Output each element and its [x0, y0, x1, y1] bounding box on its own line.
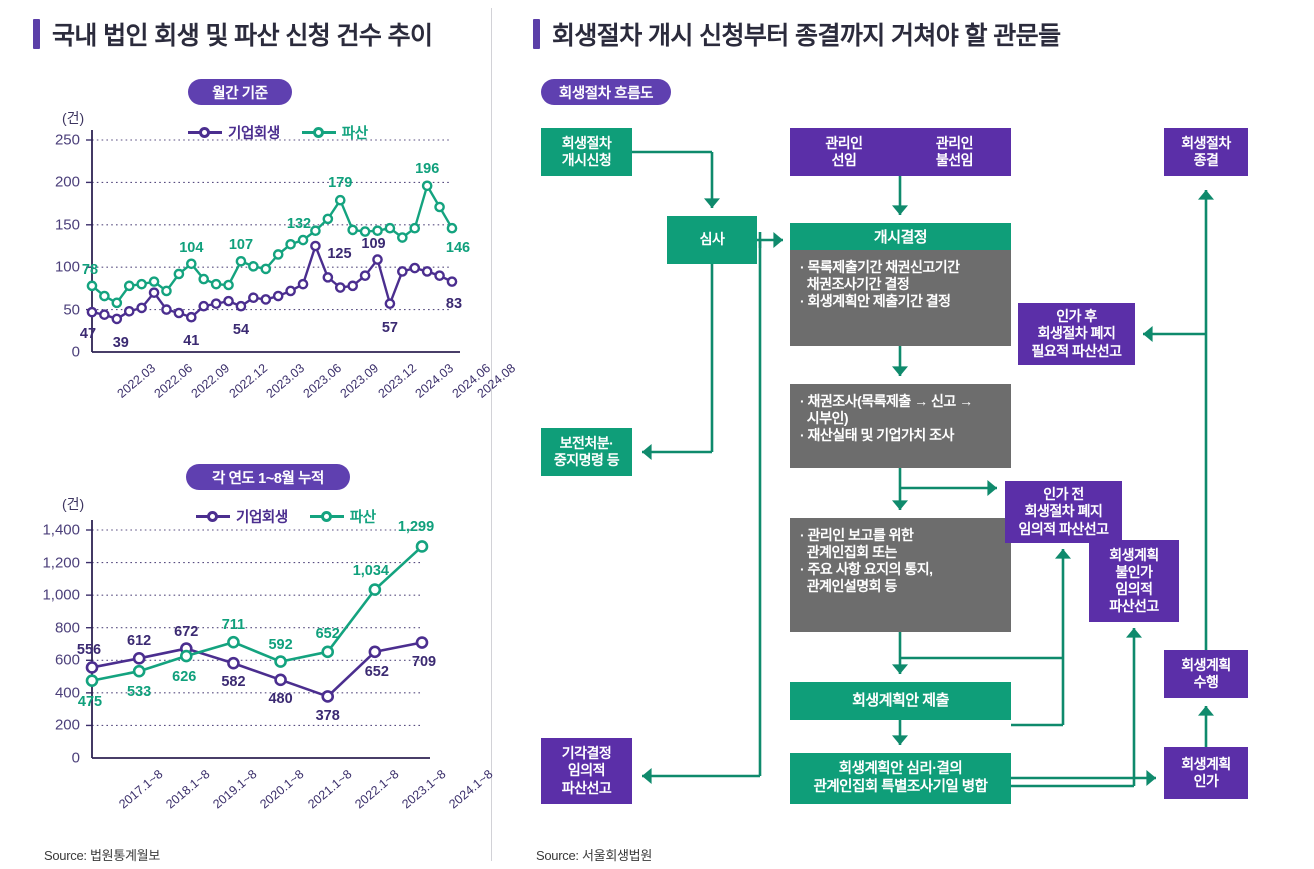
- node-text-line: 필요적 파산선고: [1031, 343, 1121, 360]
- right-source-note: Source: 서울회생법원: [536, 845, 652, 864]
- node-plan-submit[interactable]: 회생계획안 제출: [790, 682, 1011, 720]
- node-text-line: 채권조사기간 결정: [800, 276, 909, 293]
- node-text-line: · 회생계획안 제출기간 결정: [800, 293, 951, 310]
- node-start-body[interactable]: · 목록제출기간 채권신고기간 채권조사기간 결정· 회생계획안 제출기간 결정: [790, 250, 1011, 346]
- node-text-line: 회생계획안 제출: [852, 692, 949, 710]
- chart2-y-tick: 200: [55, 717, 80, 734]
- node-text-line: 관계인집회 특별조사기일 병합: [814, 779, 988, 797]
- node-trustee-no[interactable]: 관리인불선임: [898, 128, 1011, 176]
- cumulative-line-chart: 02004006008001,0001,2001,4002017.1~82018…: [0, 440, 492, 840]
- chart1-data-label: 107: [229, 237, 253, 253]
- chart1-data-label: 54: [233, 322, 249, 338]
- node-text-line: 심사: [700, 231, 725, 248]
- node-text-line: 시부인): [800, 410, 848, 427]
- left-panel: 국내 법인 회생 및 파산 신청 건수 추이 월간 기준 (건) 기업회생 파산…: [0, 0, 492, 869]
- node-text-line: 인가: [1194, 773, 1219, 790]
- node-text-line: 임의적 파산선고: [1018, 521, 1108, 538]
- chart1-data-label: 41: [183, 333, 199, 349]
- chart2-data-label: 582: [221, 674, 245, 690]
- chart2-data-label: 592: [268, 637, 292, 653]
- node-text-line: 보전처분·: [560, 435, 614, 452]
- chart1-y-tick: 250: [55, 132, 80, 149]
- chart2-y-tick: 0: [72, 750, 80, 767]
- node-text-line: 임의적: [1115, 581, 1152, 598]
- node-text-line: · 채권조사(목록제출 → 신고 →: [800, 393, 973, 410]
- node-finish[interactable]: 회생절차종결: [1164, 128, 1248, 176]
- chart1-data-label: 39: [113, 335, 129, 351]
- chart2-y-tick: 400: [55, 684, 80, 701]
- monthly-line-chart: 0501001502002502022.032022.062022.092022…: [0, 0, 492, 420]
- node-text-line: 파산선고: [1109, 598, 1159, 615]
- node-plan-execute[interactable]: 회생계획수행: [1164, 650, 1248, 698]
- node-pre-abolish[interactable]: 인가 전회생절차 폐지임의적 파산선고: [1005, 481, 1122, 543]
- node-plan-review[interactable]: 회생계획안 심리·결의관계인집회 특별조사기일 병합: [790, 753, 1011, 804]
- node-text-line: · 재산실태 및 기업가치 조사: [800, 427, 954, 444]
- chart2-data-label: 475: [78, 694, 102, 710]
- node-text-line: 관계인설명회 등: [800, 578, 897, 595]
- node-text-line: 회생절차 폐지: [1025, 503, 1103, 520]
- node-post-abolish[interactable]: 인가 후회생절차 폐지필요적 파산선고: [1018, 303, 1135, 365]
- chart2-data-label: 709: [412, 654, 436, 670]
- chart1-data-label: 146: [446, 240, 470, 256]
- node-text-line: 임의적: [568, 762, 605, 779]
- node-text-line: 개시신청: [562, 152, 612, 169]
- chart1-data-label: 104: [179, 240, 203, 256]
- chart2-data-label: 533: [127, 684, 151, 700]
- chart2-y-tick: 1,000: [42, 587, 80, 604]
- node-text-line: 회생절차: [562, 135, 612, 152]
- chart1-data-label: 125: [327, 246, 351, 262]
- chart2-data-label: 652: [365, 664, 389, 680]
- node-text-line: 관리인: [936, 135, 973, 152]
- chart1-data-label: 78: [82, 262, 98, 278]
- chart2-data-label: 480: [268, 691, 292, 707]
- title-accent-bar: [533, 19, 540, 49]
- node-text-line: 회생절차 폐지: [1038, 325, 1116, 342]
- chart2-y-tick: 800: [55, 619, 80, 636]
- node-text-line: 회생계획: [1181, 756, 1231, 773]
- chart1-data-label: 196: [415, 161, 439, 177]
- chart1-y-tick: 100: [55, 259, 80, 276]
- left-source-note: Source: 법원통계월보: [44, 845, 160, 864]
- node-text-line: · 목록제출기간 채권신고기간: [800, 259, 960, 276]
- chart1-data-label: 83: [446, 296, 462, 312]
- node-text-line: · 주요 사항 요지의 통지,: [800, 561, 933, 578]
- node-text-line: 인가 전: [1043, 486, 1084, 503]
- node-text-line: 회생계획: [1109, 547, 1159, 564]
- chart1-data-label: 47: [80, 326, 96, 342]
- node-text-line: 회생절차: [1181, 135, 1231, 152]
- node-text-line: 불인가: [1115, 564, 1152, 581]
- chart2-data-label: 652: [316, 626, 340, 642]
- flow-title: 회생절차 개시 신청부터 종결까지 거쳐야 할 관문들: [552, 16, 1060, 52]
- right-panel-title: 회생절차 개시 신청부터 종결까지 거쳐야 할 관문들: [533, 16, 1060, 52]
- node-text-line: · 관리인 보고를 위한: [800, 527, 913, 544]
- chart2-data-label: 711: [222, 617, 245, 633]
- node-text-line: 관리인: [825, 135, 862, 152]
- node-text-line: 선임: [832, 152, 857, 169]
- node-text-line: 개시결정: [874, 226, 927, 247]
- node-text-line: 인가 후: [1056, 308, 1097, 325]
- chart2-data-label: 556: [77, 642, 101, 658]
- chart2-data-label: 378: [316, 708, 340, 724]
- node-investigate[interactable]: · 채권조사(목록제출 → 신고 → 시부인)· 재산실태 및 기업가치 조사: [790, 384, 1011, 468]
- node-dismiss[interactable]: 기각결정임의적파산선고: [541, 738, 632, 804]
- node-text-line: 불선임: [936, 152, 973, 169]
- chart1-y-tick: 150: [55, 216, 80, 233]
- chart1-data-label: 179: [328, 175, 352, 191]
- chart2-data-label: 612: [127, 633, 151, 649]
- node-text-line: 중지명령 등: [554, 452, 619, 469]
- chart1-data-label: 57: [382, 320, 398, 336]
- chart2-y-tick: 1,200: [42, 554, 80, 571]
- node-review[interactable]: 심사: [667, 216, 757, 264]
- node-text-line: 수행: [1194, 674, 1219, 691]
- node-text-line: 회생계획: [1181, 657, 1231, 674]
- chart1-y-tick: 0: [72, 344, 80, 361]
- chart2-y-tick: 1,400: [42, 522, 80, 539]
- node-text-line: 관계인집회 또는: [800, 544, 897, 561]
- node-plan-reject[interactable]: 회생계획불인가임의적파산선고: [1089, 540, 1179, 622]
- node-plan-approve[interactable]: 회생계획인가: [1164, 747, 1248, 799]
- node-text-line: 회생계획안 심리·결의: [839, 761, 962, 779]
- chart1-data-label: 132: [287, 216, 311, 232]
- node-trustee-yes[interactable]: 관리인선임: [790, 128, 898, 176]
- node-start-head[interactable]: 개시결정: [790, 223, 1011, 250]
- flow-badge: 회생절차 흐름도: [541, 79, 671, 105]
- node-apply[interactable]: 회생절차개시신청: [541, 128, 632, 176]
- chart1-y-tick: 50: [63, 301, 80, 318]
- chart1-data-label: 109: [361, 236, 385, 252]
- node-report[interactable]: · 관리인 보고를 위한 관계인집회 또는· 주요 사항 요지의 통지, 관계인…: [790, 518, 1011, 632]
- chart1-y-tick: 200: [55, 174, 80, 191]
- chart2-data-label: 1,299: [398, 519, 434, 535]
- node-text-line: 기각결정: [562, 745, 612, 762]
- node-text-line: 종결: [1194, 152, 1219, 169]
- node-preserve[interactable]: 보전처분·중지명령 등: [541, 428, 632, 476]
- chart2-data-label: 626: [172, 669, 196, 685]
- right-panel: 회생절차 개시 신청부터 종결까지 거쳐야 할 관문들 회생절차 흐름도 회생절…: [492, 0, 1314, 869]
- chart2-data-label: 672: [174, 624, 198, 640]
- chart2-data-label: 1,034: [353, 563, 389, 579]
- node-text-line: 파산선고: [562, 780, 612, 797]
